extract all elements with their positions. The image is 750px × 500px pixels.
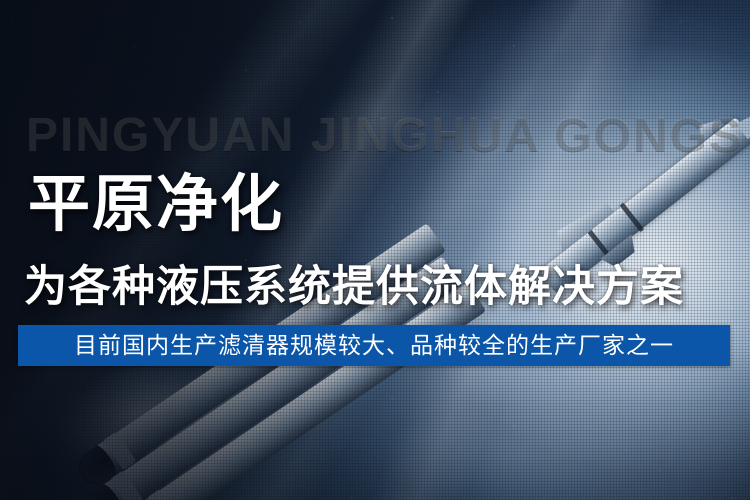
banner-content: PINGYUAN JINGHUA GONGSI YOUXIAN 平原净化 为各种…: [0, 0, 750, 500]
company-name-title: 平原净化: [28, 172, 284, 237]
promotional-banner: PINGYUAN JINGHUA GONGSI YOUXIAN 平原净化 为各种…: [0, 0, 750, 500]
tagline-text: 目前国内生产滤清器规模较大、品种较全的生产厂家之一: [74, 334, 674, 357]
slogan-subtitle: 为各种液压系统提供流体解决方案: [24, 264, 684, 311]
tagline-bar: 目前国内生产滤清器规模较大、品种较全的生产厂家之一: [18, 325, 730, 366]
pinyin-watermark: PINGYUAN JINGHUA GONGSI YOUXIAN: [26, 112, 746, 160]
